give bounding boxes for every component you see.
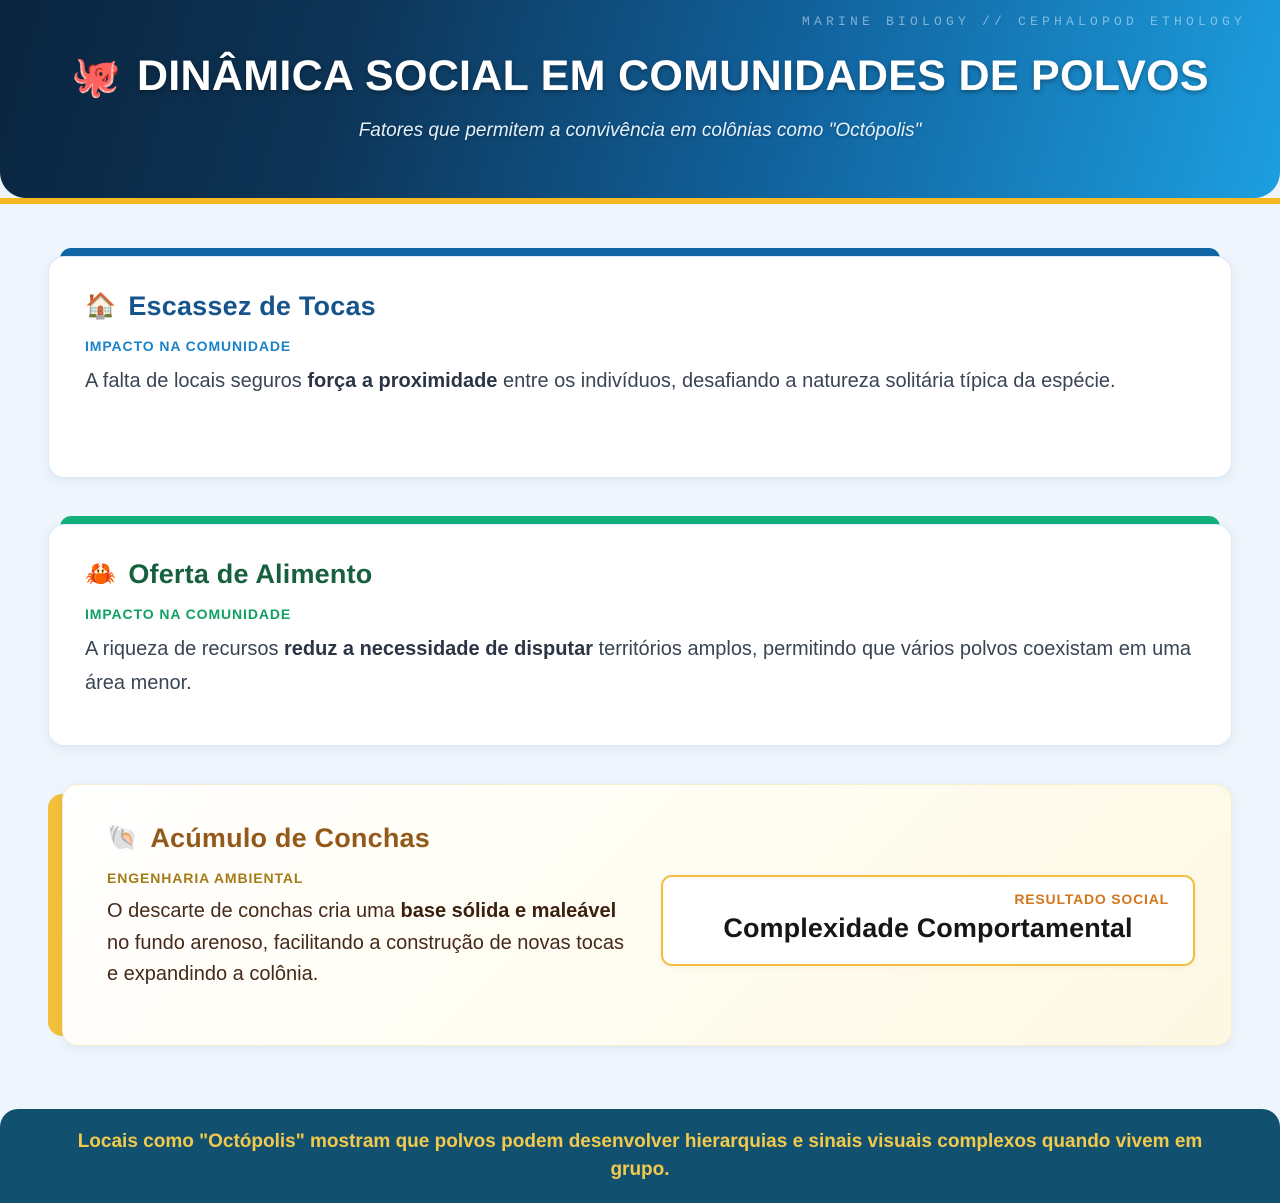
card-title-row: 🦀 Oferta de Alimento	[85, 559, 1195, 590]
card-text-before: A riqueza de recursos	[85, 638, 284, 660]
page-footer: Locais como "Octópolis" mostram que polv…	[0, 1109, 1280, 1203]
card-label: ENGENHARIA AMBIENTAL	[107, 870, 627, 886]
octopus-icon: 🐙	[71, 57, 121, 97]
card-text: A riqueza de recursos reduz a necessidad…	[85, 632, 1195, 701]
result-label: RESULTADO SOCIAL	[687, 891, 1169, 907]
result-box: RESULTADO SOCIAL Complexidade Comportame…	[661, 875, 1195, 966]
card-text-after: entre os indivíduos, desafiando a nature…	[497, 370, 1115, 392]
card-label: IMPACTO NA COMUNIDADE	[85, 338, 1195, 354]
main-content: 🏠 Escassez de Tocas IMPACTO NA COMUNIDAD…	[0, 204, 1280, 1109]
header-title-row: 🐙 DINÂMICA SOCIAL EM COMUNIDADES DE POLV…	[0, 52, 1280, 101]
card-text-emphasis: força a proximidade	[307, 370, 497, 392]
card-text-emphasis: base sólida e maleável	[400, 900, 616, 922]
card-text: O descarte de conchas cria uma base sóli…	[107, 896, 627, 991]
header-kicker: MARINE BIOLOGY // CEPHALOPOD ETHOLOGY	[802, 14, 1246, 29]
card-title-row: 🏠 Escassez de Tocas	[85, 291, 1195, 322]
card-acumulo-de-conchas: 🐚 Acúmulo de Conchas ENGENHARIA AMBIENTA…	[48, 784, 1232, 1046]
card-title-row: 🐚 Acúmulo de Conchas	[107, 823, 627, 854]
page-title: DINÂMICA SOCIAL EM COMUNIDADES DE POLVOS	[137, 52, 1209, 101]
page-subtitle: Fatores que permitem a convivência em co…	[0, 120, 1280, 142]
house-icon: 🏠	[85, 294, 116, 319]
card-title: Acúmulo de Conchas	[150, 823, 430, 854]
card-label: IMPACTO NA COMUNIDADE	[85, 606, 1195, 622]
page-header: MARINE BIOLOGY // CEPHALOPOD ETHOLOGY 🐙 …	[0, 0, 1280, 198]
card-body: 🏠 Escassez de Tocas IMPACTO NA COMUNIDAD…	[48, 256, 1232, 478]
footer-text: Locais como "Octópolis" mostram que polv…	[60, 1128, 1220, 1183]
card-title: Escassez de Tocas	[128, 291, 376, 322]
card-text: A falta de locais seguros força a proxim…	[85, 364, 1195, 398]
crab-icon: 🦀	[85, 562, 116, 587]
result-value: Complexidade Comportamental	[687, 913, 1169, 944]
card-escassez-de-tocas: 🏠 Escassez de Tocas IMPACTO NA COMUNIDAD…	[48, 248, 1232, 478]
result-column: RESULTADO SOCIAL Complexidade Comportame…	[661, 823, 1195, 966]
card-text-before: A falta de locais seguros	[85, 370, 307, 392]
card-body: 🦀 Oferta de Alimento IMPACTO NA COMUNIDA…	[48, 524, 1232, 746]
shell-icon: 🐚	[107, 826, 138, 851]
card-text-emphasis: reduz a necessidade de disputar	[284, 638, 593, 660]
card-text-after: no fundo arenoso, facilitando a construç…	[107, 932, 624, 986]
card-oferta-de-alimento: 🦀 Oferta de Alimento IMPACTO NA COMUNIDA…	[48, 516, 1232, 746]
card-text-before: O descarte de conchas cria uma	[107, 900, 400, 922]
card-text-column: 🐚 Acúmulo de Conchas ENGENHARIA AMBIENTA…	[107, 823, 627, 991]
card-title: Oferta de Alimento	[128, 559, 372, 590]
card-body: 🐚 Acúmulo de Conchas ENGENHARIA AMBIENTA…	[62, 784, 1232, 1046]
